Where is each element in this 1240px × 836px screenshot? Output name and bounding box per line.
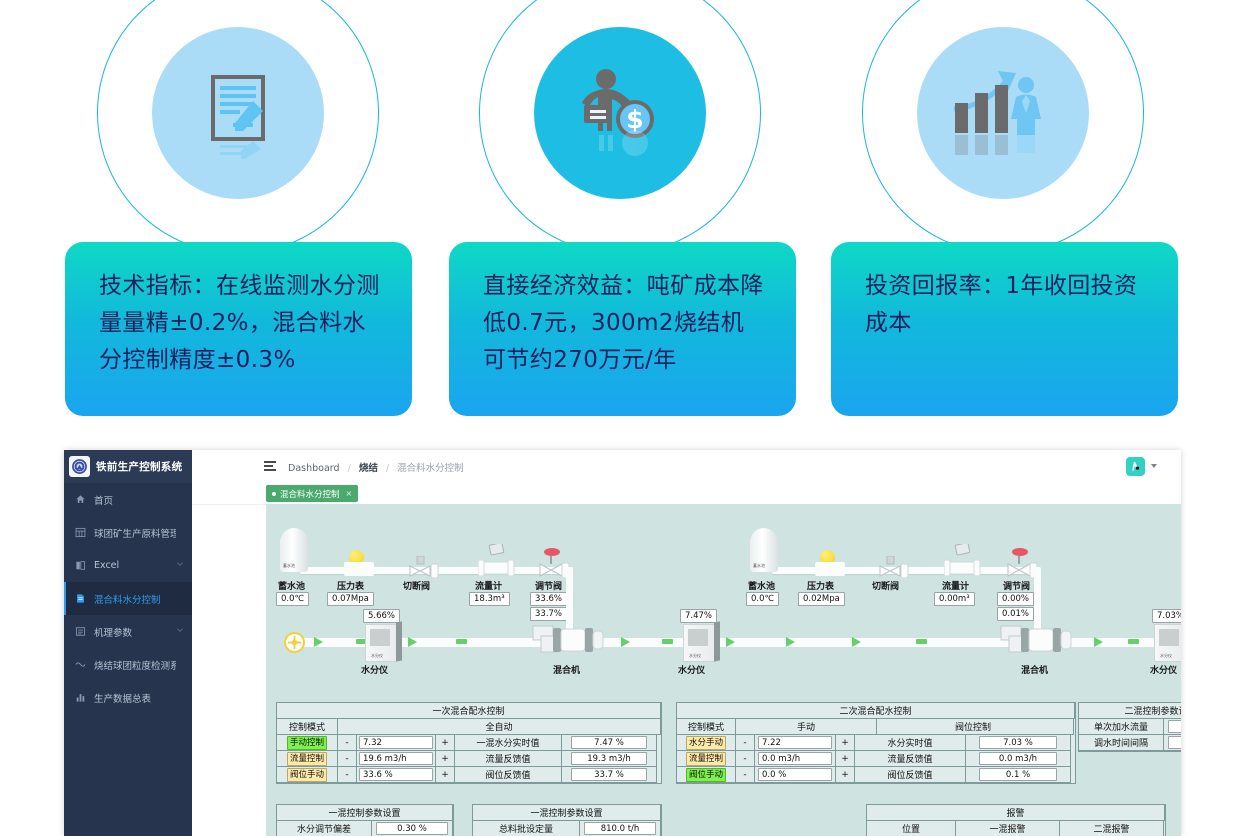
panel-params2: 二混控制参数设置 单次加水流量 0.5 调水时间间隔 30 s xyxy=(1078,702,1181,752)
panel-secondary-row-0-plus[interactable]: + xyxy=(835,734,855,751)
panel-primary-row-2-right-value: 33.7 % xyxy=(571,768,647,781)
panel-primary-row-2-input[interactable]: 33.6 % xyxy=(359,768,433,781)
flowmeter-2-icon xyxy=(944,544,982,581)
panel-primary-row-0-right-value: 7.47 % xyxy=(571,736,647,749)
application-window: 铁前生产控制系统 首页 球团矿生产原料管理 Excel xyxy=(64,450,1181,836)
grid-icon xyxy=(74,526,87,539)
panel-primary-row-2-right-label: 阀位反馈值 xyxy=(454,766,562,783)
belt-arrow-2d xyxy=(1094,637,1103,647)
panel-secondary-row-1-right-cell: 0.0 m3/h xyxy=(965,750,1071,767)
panel-primary-row-0-minus[interactable]: - xyxy=(337,734,357,751)
avatar[interactable] xyxy=(1126,457,1145,476)
panel-primary-row-2-tag[interactable]: 阀位手动 xyxy=(287,768,327,782)
panel-secondary-row-0-right-cell: 7.03 % xyxy=(965,734,1071,751)
panel-primary-row-1-plus[interactable]: + xyxy=(435,750,455,767)
reg-valve-2-value2: 0.01% xyxy=(997,607,1034,621)
moisture-meter-2-right-screen xyxy=(1159,629,1179,646)
panel-secondary-row-1-input[interactable]: 0.0 m3/h xyxy=(758,752,832,765)
panel-primary-row-2-input-cell[interactable]: 33.6 % xyxy=(356,766,436,783)
panel-primary-title-row: 一次混合配水控制 xyxy=(277,703,661,719)
panel-secondary-row-0-minus[interactable]: - xyxy=(735,734,755,751)
pressure-gauge-2-body xyxy=(815,562,845,576)
panel-primary-row-2: 阀位手动 - 33.6 % + 阀位反馈值 33.7 % xyxy=(277,767,661,783)
panel-primary-row-0-tagcell[interactable]: 手动控制 xyxy=(276,734,338,751)
panel-secondary-row-2-right-label: 阀位反馈值 xyxy=(854,766,966,783)
panel-params2-row-1-cell[interactable]: 30 s xyxy=(1163,734,1181,751)
moisture-meter-2-right-tag: 水分仪 xyxy=(1160,653,1172,659)
panel-params2-row-0-cell[interactable]: 0.5 xyxy=(1163,718,1181,735)
panel-secondary-row-0: 水分手动 - 7.22 + 水分实时值 7.03 % xyxy=(677,735,1075,751)
belt-arrow-1c xyxy=(621,637,630,647)
panel-primary-row-1-right-value: 19.3 m3/h xyxy=(571,752,647,765)
moisture-meter-2-left-side xyxy=(714,621,720,661)
tank-1: 蓄水池 xyxy=(280,528,308,572)
panel-primary-title: 一次混合配水控制 xyxy=(276,702,661,719)
moisture-2-right-label: 水分仪 xyxy=(1150,663,1177,676)
belt-arrow-1a xyxy=(314,637,323,647)
belt-dash-1b xyxy=(456,639,467,644)
panel-primary: 一次混合配水控制 控制模式 全自动 手动控制 - 7.32 + 一混水分实时值 … xyxy=(276,702,662,784)
pressure-gauge-1-body xyxy=(344,562,374,576)
panel-secondary-row-0-right-value: 7.03 % xyxy=(979,736,1057,749)
panel-alarm-col-0: 位置 xyxy=(866,820,956,836)
panel-primary-row-1-tag[interactable]: 流量控制 xyxy=(287,752,327,766)
sidebar-item-pellet-material[interactable]: 球团矿生产原料管理 xyxy=(64,516,192,549)
panel-primary-row-0-plus[interactable]: + xyxy=(435,734,455,751)
panel-primary-row-1-input[interactable]: 19.6 m3/h xyxy=(359,752,433,765)
moisture-meter-1: 水分仪 xyxy=(365,624,397,662)
benefit-card-2: 直接经济效益：吨矿成本降低0.7元，300m2烧结机可节约270万元/年 xyxy=(449,242,796,416)
breadcrumb-root[interactable]: Dashboard xyxy=(288,463,340,474)
belt-arrow-2b xyxy=(786,637,795,647)
panel-secondary-row-1-minus[interactable]: - xyxy=(735,750,755,767)
flowmeter-2-label: 流量计 xyxy=(942,579,969,592)
scada-canvas: 蓄水池 蓄水池 0.0℃ 压力表 0.07Mpa 切断阀 流量计 1 xyxy=(266,504,1181,836)
benefit-card-1-text: 技术指标：在线监测水分测量量精±0.2%，混合料水分控制精度±0.3% xyxy=(99,268,382,379)
tank-2-label: 蓄水池 xyxy=(748,579,775,592)
panel-primary-row-1: 流量控制 - 19.6 m3/h + 流量反馈值 19.3 m3/h xyxy=(277,751,661,767)
panel-primary-row-2-right-cell: 33.7 % xyxy=(561,766,657,783)
breadcrumb-mid[interactable]: 烧结 xyxy=(359,463,378,474)
mixer-2-label: 混合机 xyxy=(1021,663,1048,676)
mixer-2 xyxy=(999,622,1073,652)
tank-2-value: 0.0℃ xyxy=(746,592,779,606)
tab-moisture-control[interactable]: 混合料水分控制 × xyxy=(266,485,358,502)
panel-primary-params-left-row-0-cell[interactable]: 0.30 % xyxy=(371,820,453,836)
belt-dash-2c xyxy=(1128,639,1139,644)
belt-arrow-2a xyxy=(726,637,735,647)
benefits-section: $ xyxy=(0,0,1240,440)
panel-secondary-row-2-tagcell[interactable]: 阀位手动 xyxy=(676,766,736,783)
close-icon[interactable]: × xyxy=(346,489,353,498)
benefit-card-3: 投资回报率：1年收回投资成本 xyxy=(831,242,1178,416)
panel-alarm-col-1: 一混报警 xyxy=(955,820,1060,836)
panel-secondary-row-2-plus[interactable]: + xyxy=(835,766,855,783)
tank-2-tag: 蓄水池 xyxy=(753,563,765,569)
panel-primary-params-left: 一混控制参数设置 水分调节偏差 0.30 % xyxy=(276,804,454,836)
reg-valve-1-wheel xyxy=(544,548,560,556)
flowmeter-1-label: 流量计 xyxy=(475,579,502,592)
panel-primary-row-1-minus[interactable]: - xyxy=(337,750,357,767)
panel-primary-row-2-tagcell[interactable]: 阀位手动 xyxy=(276,766,338,783)
panel-secondary-row-0-input-cell[interactable]: 7.22 xyxy=(754,734,836,751)
topbar: Dashboard / 烧结 / 混合料水分控制 xyxy=(192,450,1181,484)
moisture-2-right-value: 7.03% xyxy=(1152,609,1181,623)
home-icon xyxy=(74,493,87,506)
flowmeter-1-value: 18.3m³ xyxy=(469,592,510,606)
panel-secondary: 二次混合配水控制 控制模式 手动 阀位控制 水分手动 - 7.22 + 水分实时… xyxy=(676,702,1076,784)
document-pen-icon xyxy=(152,27,324,199)
panel-primary-mode-value: 全自动 xyxy=(337,718,661,735)
reg-valve-1-value2: 33.7% xyxy=(530,607,567,621)
breadcrumb-sep-1: / xyxy=(348,463,351,474)
moisture-meter-1-side xyxy=(396,621,402,661)
shutoff-1-label: 切断阀 xyxy=(403,579,430,592)
sidebar-item-pellet-material-label: 球团矿生产原料管理 xyxy=(94,526,176,540)
panel-secondary-mode-value2: 阀位控制 xyxy=(876,718,1074,735)
panel-primary-mode-label: 控制模式 xyxy=(276,718,338,735)
panel-secondary-mode-value: 手动 xyxy=(735,718,877,735)
list-icon xyxy=(74,625,87,638)
belt-1 xyxy=(286,638,706,647)
panel-primary-row-0-input-cell[interactable]: 7.32 xyxy=(356,734,436,751)
tank-2: 蓄水池 xyxy=(750,528,778,572)
panel-secondary-title-row: 二次混合配水控制 xyxy=(677,703,1075,719)
brand-header: 铁前生产控制系统 xyxy=(64,450,192,483)
panel-primary-row-2-minus[interactable]: - xyxy=(337,766,357,783)
sidebar-item-mechanism-params[interactable]: 机理参数 xyxy=(64,615,192,648)
flowmeter-1-icon xyxy=(478,544,516,581)
menu-toggle-icon[interactable] xyxy=(264,461,276,472)
panel-secondary-row-2-tag[interactable]: 阀位手动 xyxy=(686,768,726,782)
sidebar-item-home[interactable]: 首页 xyxy=(64,483,192,516)
panel-params2-row-1: 调水时间间隔 30 s xyxy=(1079,735,1181,751)
reg-valve-1-label: 调节阀 xyxy=(535,579,562,592)
moisture-meter-2-right: 水分仪 xyxy=(1154,624,1181,662)
company-logo-icon xyxy=(69,456,90,477)
panel-secondary-row-1-input-cell[interactable]: 0.0 m3/h xyxy=(754,750,836,767)
panel-primary-row-0-right-label: 一混水分实时值 xyxy=(454,734,562,751)
breadcrumb-sep-2: / xyxy=(386,463,389,474)
panel-secondary-row-2-minus[interactable]: - xyxy=(735,766,755,783)
panel-alarm: 报警 位置 一混报警 二混报警 xyxy=(866,804,1166,836)
panel-secondary-row-1-tagcell[interactable]: 流量控制 xyxy=(676,750,736,767)
panel-alarm-title-row: 报警 xyxy=(867,805,1165,821)
panel-primary-params-right-row-0-label: 总料批设定量 xyxy=(472,820,580,836)
panel-secondary-row-1-tag[interactable]: 流量控制 xyxy=(686,752,726,766)
belt-arrow-2c xyxy=(852,637,861,647)
tank-1-tag: 蓄水池 xyxy=(283,563,295,569)
panel-primary-params-left-title-row: 一混控制参数设置 xyxy=(277,805,453,821)
brand-title: 铁前生产控制系统 xyxy=(96,459,182,474)
tab-strip: 混合料水分控制 × xyxy=(192,483,1181,505)
panel-secondary-title: 二次混合配水控制 xyxy=(676,702,1075,719)
tank-1-label: 蓄水池 xyxy=(278,579,305,592)
sidebar-item-moisture-control-label: 混合料水分控制 xyxy=(94,592,176,606)
sidebar: 铁前生产控制系统 首页 球团矿生产原料管理 Excel xyxy=(64,450,192,836)
flowmeter-2-value: 0.00m³ xyxy=(934,592,975,606)
belt-dash-2a xyxy=(662,639,673,644)
panel-primary-params-right-title-row: 一混控制参数设置 xyxy=(473,805,661,821)
moisture-meter-1-screen xyxy=(370,629,390,646)
breadcrumb: Dashboard / 烧结 / 混合料水分控制 xyxy=(288,460,464,474)
panel-secondary-row-1-right-label: 流量反馈值 xyxy=(854,750,966,767)
pressure-1-label: 压力表 xyxy=(337,579,364,592)
panel-primary-row-0-tag[interactable]: 手动控制 xyxy=(287,736,327,750)
panel-primary-row-1-tagcell[interactable]: 流量控制 xyxy=(276,750,338,767)
panel-params2-row-1-label: 调水时间间隔 xyxy=(1078,734,1164,751)
reg-valve-1-value1: 33.6% xyxy=(530,592,567,606)
sidebar-item-production-summary-label: 生产数据总表 xyxy=(94,691,176,705)
tank-1-value: 0.0℃ xyxy=(276,592,309,606)
bar-chart-icon xyxy=(74,691,87,704)
person-money-icon: $ xyxy=(534,27,706,199)
panel-params2-title-row: 二混控制参数设置 xyxy=(1079,703,1181,719)
sidebar-item-mechanism-params-label: 机理参数 xyxy=(94,625,176,639)
growth-chart-person-icon xyxy=(917,27,1089,199)
doc-icon xyxy=(74,592,87,605)
belt-dash-2b xyxy=(916,639,927,644)
panel-secondary-row-2: 阀位手动 - 0.0 % + 阀位反馈值 0.1 % xyxy=(677,767,1075,783)
panel-secondary-row-1-right-value: 0.0 m3/h xyxy=(979,752,1057,765)
panel-params2-row-0: 单次加水流量 0.5 xyxy=(1079,719,1181,735)
panel-primary-params-right-row-0-value[interactable]: 810.0 t/h xyxy=(584,822,656,835)
moisture-meter-2-left-tag: 水分仪 xyxy=(689,653,701,659)
chevron-down-icon[interactable] xyxy=(176,560,184,571)
panel-primary-mode-row: 控制模式 全自动 xyxy=(277,719,661,735)
moisture-2-left-value: 7.47% xyxy=(680,609,717,623)
panel-secondary-row-1: 流量控制 - 0.0 m3/h + 流量反馈值 0.0 m3/h xyxy=(677,751,1075,767)
panel-secondary-row-2-right-value: 0.1 % xyxy=(979,768,1057,781)
chevron-down-icon-user[interactable] xyxy=(1151,464,1157,468)
panel-secondary-row-0-tag[interactable]: 水分手动 xyxy=(686,736,726,750)
reg-valve-2-value1: 0.00% xyxy=(997,592,1034,606)
sidebar-item-granularity-detection[interactable]: 烧结球团粒度检测系统 xyxy=(64,648,192,681)
moisture-meter-1-tag: 水分仪 xyxy=(371,653,383,659)
panel-primary-params-right-row-0-cell[interactable]: 810.0 t/h xyxy=(579,820,661,836)
pressure-2-value: 0.02Mpa xyxy=(798,592,845,606)
sidebar-item-moisture-control[interactable]: 混合料水分控制 xyxy=(64,582,192,615)
reg-valve-2-wheel xyxy=(1012,548,1028,556)
tab-moisture-control-label: 混合料水分控制 xyxy=(280,488,340,500)
panel-params2-title: 二混控制参数设置 xyxy=(1078,702,1181,719)
panel-primary-row-1-input-cell[interactable]: 19.6 m3/h xyxy=(356,750,436,767)
panel-secondary-mode-row: 控制模式 手动 阀位控制 xyxy=(677,719,1075,735)
panel-secondary-row-1-plus[interactable]: + xyxy=(835,750,855,767)
panel-alarm-header-row: 位置 一混报警 二混报警 xyxy=(867,821,1165,836)
sidebar-item-excel-label: Excel xyxy=(94,560,176,571)
panel-primary-params-right-title: 一混控制参数设置 xyxy=(472,804,661,821)
panel-secondary-row-2-input-cell[interactable]: 0.0 % xyxy=(754,766,836,783)
panel-params2-row-0-value[interactable]: 0.5 xyxy=(1168,720,1181,733)
wave-icon xyxy=(74,658,87,671)
belt-arrow-1b xyxy=(408,637,417,647)
benefit-card-3-text: 投资回报率：1年收回投资成本 xyxy=(865,268,1148,342)
benefit-card-1: 技术指标：在线监测水分测量量精±0.2%，混合料水分控制精度±0.3% xyxy=(65,242,412,416)
moisture-meter-2-left: 水分仪 xyxy=(683,624,715,662)
shutoff-2-label: 切断阀 xyxy=(872,579,899,592)
breadcrumb-leaf: 混合料水分控制 xyxy=(397,463,464,474)
moisture-meter-2-left-screen xyxy=(688,629,708,646)
panel-secondary-row-0-right-label: 水分实时值 xyxy=(854,734,966,751)
panel-primary-params-left-row-0-value[interactable]: 0.30 % xyxy=(376,822,448,835)
panel-primary-row-2-plus[interactable]: + xyxy=(435,766,455,783)
panel-primary-row-1-right-label: 流量反馈值 xyxy=(454,750,562,767)
panel-params2-row-0-label: 单次加水流量 xyxy=(1078,718,1164,735)
excel-icon xyxy=(74,559,87,572)
panel-primary-row-0: 手动控制 - 7.32 + 一混水分实时值 7.47 % xyxy=(277,735,661,751)
panel-primary-params-left-row-0: 水分调节偏差 0.30 % xyxy=(277,821,453,836)
pressure-1-value: 0.07Mpa xyxy=(327,592,374,606)
panel-primary-params-right-row-0: 总料批设定量 810.0 t/h xyxy=(473,821,661,836)
panel-secondary-row-0-input[interactable]: 7.22 xyxy=(758,736,832,749)
panel-params2-row-1-value[interactable]: 30 s xyxy=(1168,736,1181,749)
sidebar-item-home-label: 首页 xyxy=(94,493,176,507)
panel-primary-params-left-row-0-label: 水分调节偏差 xyxy=(276,820,372,836)
panel-primary-row-0-right-cell: 7.47 % xyxy=(561,734,657,751)
panel-secondary-row-0-tagcell[interactable]: 水分手动 xyxy=(676,734,736,751)
pressure-2-label: 压力表 xyxy=(807,579,834,592)
sidebar-item-production-summary[interactable]: 生产数据总表 xyxy=(64,681,192,714)
reg-valve-2-label: 调节阀 xyxy=(1003,579,1030,592)
panel-alarm-col-2: 二混报警 xyxy=(1059,820,1164,836)
sidebar-item-excel[interactable]: Excel xyxy=(64,549,192,582)
tab-status-dot xyxy=(272,492,276,496)
panel-primary-params-right: 一混控制参数设置 总料批设定量 810.0 t/h xyxy=(472,804,662,836)
moisture-1-label: 水分仪 xyxy=(361,663,388,676)
panel-primary-row-0-input[interactable]: 7.32 xyxy=(359,736,433,749)
sidebar-item-granularity-detection-label: 烧结球团粒度检测系统 xyxy=(94,658,176,672)
panel-primary-row-1-right-cell: 19.3 m3/h xyxy=(561,750,657,767)
moisture-1-value: 5.66% xyxy=(363,609,400,623)
chevron-down-icon-2[interactable] xyxy=(176,626,184,637)
svg-text:$: $ xyxy=(626,105,643,134)
panel-alarm-title: 报警 xyxy=(866,804,1165,821)
moisture-2-left-label: 水分仪 xyxy=(678,663,705,676)
panel-primary-params-left-title: 一混控制参数设置 xyxy=(276,804,453,821)
panel-secondary-row-2-right-cell: 0.1 % xyxy=(965,766,1071,783)
mixer-1-label: 混合机 xyxy=(553,663,580,676)
feed-wheel-1-icon xyxy=(284,632,305,653)
benefit-card-2-text: 直接经济效益：吨矿成本降低0.7元，300m2烧结机可节约270万元/年 xyxy=(483,268,766,379)
panel-secondary-row-2-input[interactable]: 0.0 % xyxy=(758,768,832,781)
mixer-1 xyxy=(531,622,605,652)
panel-secondary-mode-label: 控制模式 xyxy=(676,718,736,735)
